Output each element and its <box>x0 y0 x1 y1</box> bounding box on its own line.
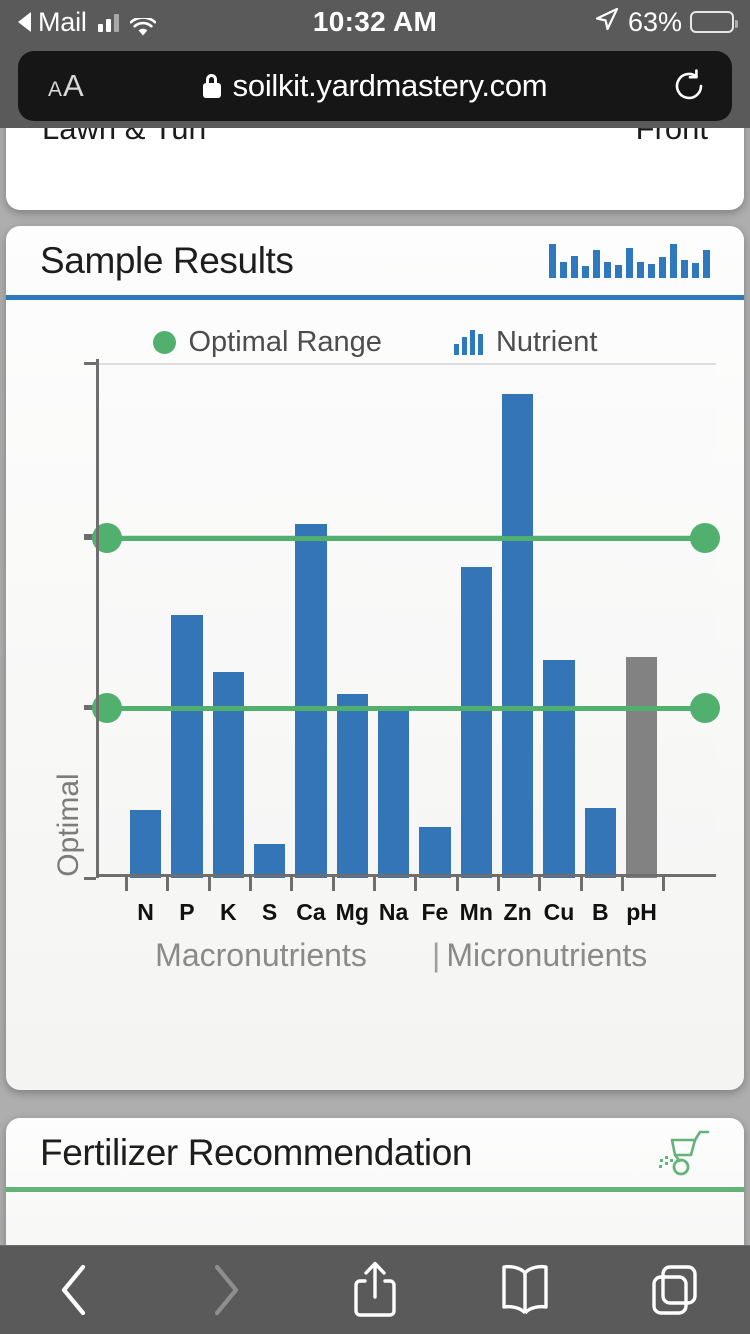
fertilizer-recommendation-card[interactable]: Fertilizer Recommendation <box>6 1118 744 1245</box>
x-axis-label-p: P <box>179 899 194 926</box>
x-axis-label-mg: Mg <box>336 899 369 926</box>
x-axis-label-ca: Ca <box>296 899 325 926</box>
chart-plot-area <box>96 363 716 878</box>
forward-icon <box>165 1246 285 1334</box>
legend-item-optimal-range: Optimal Range <box>153 326 382 359</box>
x-axis-label-na: Na <box>379 899 408 926</box>
chart-bar-ph[interactable] <box>626 657 657 878</box>
chart-bar-b[interactable] <box>585 808 616 878</box>
x-axis-tick <box>538 877 541 891</box>
sample-location-label: Front <box>636 128 708 158</box>
y-axis-line <box>96 359 99 878</box>
group-label-macronutrients: Macronutrients <box>96 937 426 974</box>
x-axis-label-n: N <box>137 899 154 926</box>
x-axis-tick <box>414 877 417 891</box>
lock-icon <box>203 74 221 98</box>
optimal-range-max-line <box>96 536 716 541</box>
phone-screen: Mail 10:32 AM 63% AA <box>0 0 750 1334</box>
optimal-range-min-line <box>96 706 716 711</box>
chart-bar-mg[interactable] <box>337 694 368 878</box>
y-axis-tick <box>84 877 96 880</box>
y-axis-label: Optimal <box>52 725 86 925</box>
x-axis-tick <box>208 877 211 891</box>
x-axis-tick <box>621 877 624 891</box>
chart-gridline <box>96 363 716 365</box>
chart-bar-fe[interactable] <box>419 827 450 878</box>
x-axis-tick <box>456 877 459 891</box>
nutrient-chart[interactable]: Optimal NPKSCaMgNaFeMnZnCuBpH Macronutri… <box>6 359 750 979</box>
green-dot-icon <box>153 331 176 354</box>
chart-legend: Optimal RangeNutrient <box>6 326 744 359</box>
x-axis-label-mn: Mn <box>460 899 493 926</box>
x-axis-tick <box>580 877 583 891</box>
x-axis-label-b: B <box>592 899 609 926</box>
tabs-icon[interactable] <box>615 1246 735 1334</box>
location-arrow-icon <box>594 6 620 39</box>
group-label-separator: | <box>426 937 446 974</box>
page-title: Sample Results <box>40 240 294 282</box>
text-size-large-a: A <box>63 68 84 104</box>
shopping-cart-icon[interactable] <box>658 1129 710 1177</box>
text-size-button[interactable]: AA <box>48 68 84 104</box>
x-axis-label-s: S <box>262 899 277 926</box>
chart-bar-ca[interactable] <box>295 524 326 878</box>
web-page-content: Lawn & Turf Front Sample Results Optimal… <box>0 128 750 1245</box>
bar-chart-icon <box>549 244 710 278</box>
x-axis-tick <box>332 877 335 891</box>
x-axis-tick <box>497 877 500 891</box>
bar-chart-icon <box>454 330 483 355</box>
chart-bar-zn[interactable] <box>502 394 533 878</box>
address-bar[interactable]: AA soilkit.yardmastery.com <box>18 51 732 121</box>
browser-toolbar: AA soilkit.yardmastery.com <box>0 44 750 128</box>
x-axis-tick <box>166 877 169 891</box>
x-axis-tick-labels: NPKSCaMgNaFeMnZnCuBpH <box>96 899 716 935</box>
legend-item-nutrient: Nutrient <box>454 326 598 359</box>
url-text[interactable]: soilkit.yardmastery.com <box>233 68 548 104</box>
optimal-range-knob <box>690 523 720 553</box>
group-label-micronutrients: Micronutrients <box>446 937 716 974</box>
x-axis-tick <box>125 877 128 891</box>
browser-bottom-toolbar <box>0 1245 750 1334</box>
share-icon[interactable] <box>315 1246 435 1334</box>
sample-info-card[interactable]: Lawn & Turf Front <box>6 128 744 210</box>
chart-bar-mn[interactable] <box>461 567 492 878</box>
back-icon[interactable] <box>15 1246 135 1334</box>
battery-percent-label: 63% <box>628 7 682 38</box>
address-bar-content[interactable]: soilkit.yardmastery.com <box>18 68 732 104</box>
reload-icon[interactable] <box>672 69 706 103</box>
y-axis-tick <box>84 362 96 365</box>
fertilizer-header: Fertilizer Recommendation <box>6 1118 744 1192</box>
battery-icon <box>690 11 734 33</box>
chart-bar-s[interactable] <box>254 844 285 878</box>
x-axis-label-zn: Zn <box>504 899 532 926</box>
chart-bar-n[interactable] <box>130 810 161 878</box>
x-axis-label-cu: Cu <box>544 899 575 926</box>
status-bar: Mail 10:32 AM 63% <box>0 0 750 44</box>
x-axis-tick <box>249 877 252 891</box>
chart-bar-na[interactable] <box>378 708 409 878</box>
text-size-small-a: A <box>48 78 62 102</box>
optimal-range-knob <box>690 693 720 723</box>
x-axis-label-fe: Fe <box>422 899 449 926</box>
chart-bar-cu[interactable] <box>543 660 574 878</box>
sample-results-card: Sample Results Optimal RangeNutrient Opt… <box>6 226 744 1090</box>
x-axis-label-k: K <box>220 899 237 926</box>
legend-label: Optimal Range <box>189 326 382 359</box>
status-bar-right: 63% <box>594 6 734 39</box>
sample-type-label: Lawn & Turf <box>42 128 207 158</box>
chart-bar-p[interactable] <box>171 615 202 878</box>
fertilizer-title: Fertilizer Recommendation <box>40 1132 472 1174</box>
x-axis-label-ph: pH <box>626 899 657 926</box>
bookmarks-icon[interactable] <box>465 1246 585 1334</box>
x-axis-tick <box>373 877 376 891</box>
x-axis-tick <box>662 877 665 891</box>
nutrient-group-labels: Macronutrients | Micronutrients <box>96 937 716 974</box>
legend-label: Nutrient <box>496 326 598 359</box>
x-axis-tick <box>290 877 293 891</box>
sample-results-header: Sample Results <box>6 226 744 300</box>
chart-bar-k[interactable] <box>213 672 244 878</box>
